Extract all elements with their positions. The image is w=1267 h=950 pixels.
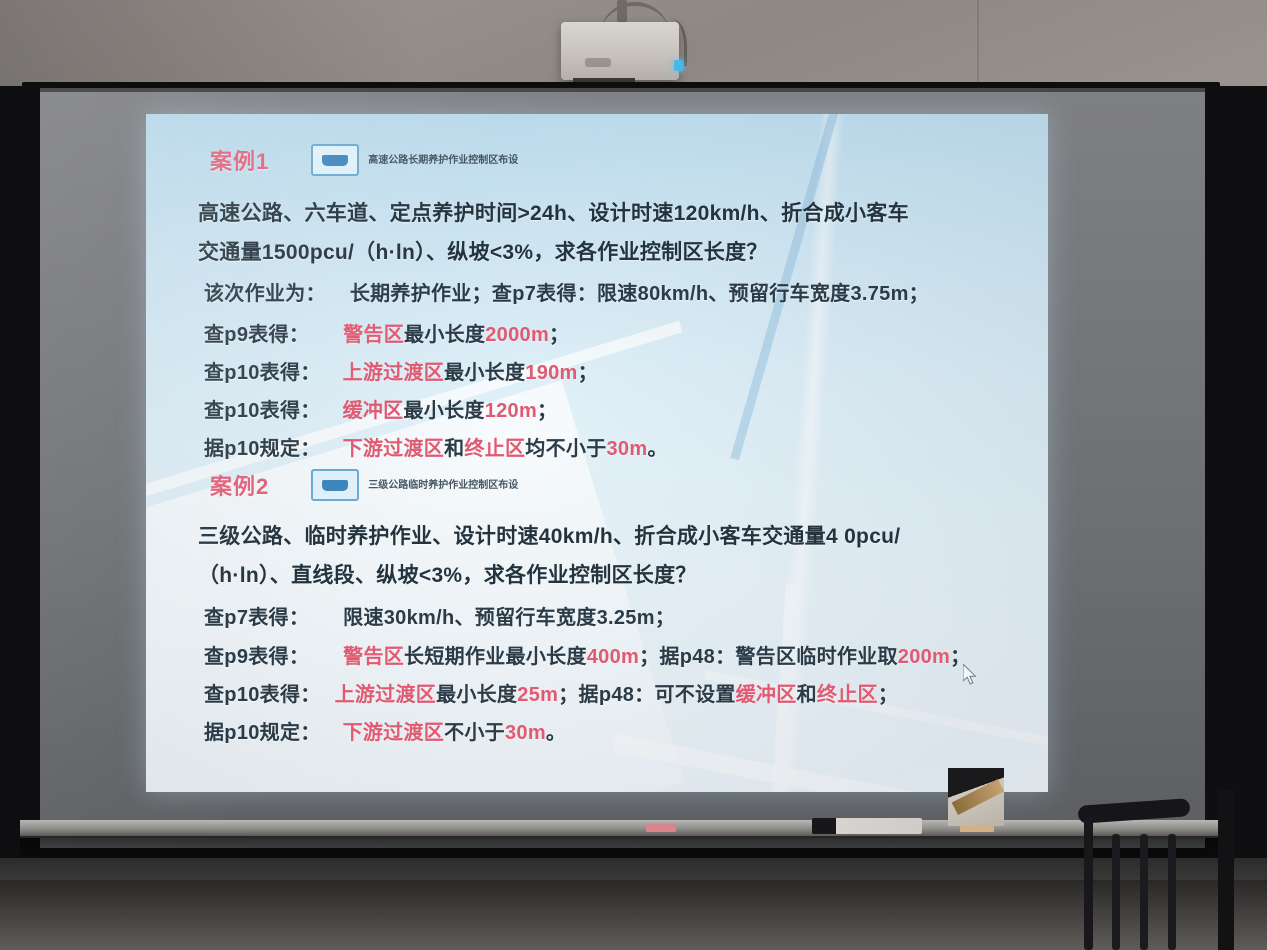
case1-thumbnail-caption: 高速公路长期养护作业控制区布设 — [368, 155, 518, 166]
case1-header: 案例1 高速公路长期养护作业控制区布设 — [210, 144, 518, 176]
case2-answer-2-hl2: 400m — [587, 646, 639, 668]
chair-post-3 — [1140, 834, 1148, 950]
board-right-panel — [1205, 86, 1267, 864]
case1-answer-5: 据p10规定：下游过渡区和终止区均不小于30m。 — [204, 432, 668, 461]
case1-answer-2-hl2: 2000m — [485, 324, 549, 346]
slide-thumbnail-icon — [311, 144, 359, 176]
case2-answer-4-mid1: 不小于 — [444, 722, 505, 744]
case1-answer-1-text: 长期养护作业；查p7表得：限速80km/h、预留行车宽度3.75m； — [326, 283, 929, 305]
case2-answer-3-hl2: 25m — [517, 684, 558, 706]
chair-post-4 — [1168, 834, 1176, 950]
case2-problem-line-1: 三级公路、临时养护作业、设计时速40km/h、折合成小客车交通量4 0pcu/ — [198, 520, 900, 550]
case2-answer-4-tail: 。 — [546, 722, 566, 744]
case1-thumbnail-group: 高速公路长期养护作业控制区布设 — [311, 144, 518, 176]
case1-answer-2-tail: ； — [549, 324, 569, 346]
case2-answer-3-mid3: 和 — [797, 684, 817, 706]
case2-answer-2-hl1: 警告区 — [309, 646, 404, 668]
projector-mount — [617, 0, 627, 22]
chair-backrest-rail — [1078, 798, 1191, 824]
case1-answer-5-mid2: 均不小于 — [525, 438, 606, 460]
case2-answer-3-hl4: 终止区 — [817, 684, 878, 706]
projected-slide: 案例1 高速公路长期养护作业控制区布设 高速公路、六车道、定点养护时间>24h、… — [146, 114, 1048, 792]
slide-content: 案例1 高速公路长期养护作业控制区布设 高速公路、六车道、定点养护时间>24h、… — [146, 114, 1048, 792]
whiteboard-eraser — [812, 818, 922, 834]
case2-header: 案例2 三级公路临时养护作业控制区布设 — [210, 469, 518, 501]
case1-answer-5-hl1: 下游过渡区 — [321, 438, 445, 460]
case2-answer-1: 查p7表得：限速30km/h、预留行车宽度3.25m； — [204, 601, 675, 630]
case1-answer-2-hl1: 警告区 — [309, 324, 404, 346]
case1-answer-4-mid1: 最小长度 — [403, 400, 484, 422]
case1-answer-2-mid1: 最小长度 — [404, 324, 485, 346]
case2-answer-3: 查p10表得：上游过渡区最小长度25m；据p48：可不设置缓冲区和终止区； — [204, 678, 898, 707]
slide-thumbnail-icon — [311, 469, 359, 501]
chair-post-1 — [1084, 816, 1093, 950]
case1-answer-5-tail: 。 — [647, 438, 667, 460]
case2-answer-4-label: 据p10规定： — [204, 722, 321, 744]
classroom-scene: 案例1 高速公路长期养护作业控制区布设 高速公路、六车道、定点养护时间>24h、… — [0, 0, 1267, 950]
case2-answer-3-label: 查p10表得： — [204, 684, 321, 706]
case2-answer-3-mid2: ；据p48：可不设置 — [558, 684, 735, 706]
case1-answer-4-hl1: 缓冲区 — [321, 400, 404, 422]
case1-answer-5-hl3: 30m — [607, 438, 648, 460]
chair-side-frame — [1218, 790, 1234, 950]
case1-answer-3-hl2: 190m — [525, 362, 577, 384]
case1-answer-3-hl1: 上游过渡区 — [321, 362, 445, 384]
case2-answer-4-hl2: 30m — [505, 722, 546, 744]
case2-answer-2-label: 查p9表得： — [204, 646, 309, 668]
case1-answer-2: 查p9表得：警告区最小长度2000m； — [204, 318, 569, 347]
desk-front-panel — [0, 880, 1267, 950]
chair-post-2 — [1112, 834, 1120, 950]
mouse-pointer-icon — [963, 664, 979, 686]
case2-answer-3-mid1: 最小长度 — [436, 684, 517, 706]
case1-problem-line-1: 高速公路、六车道、定点养护时间>24h、设计时速120km/h、折合成小客车 — [198, 197, 909, 227]
case1-answer-5-label: 据p10规定： — [204, 438, 321, 460]
case1-answer-4: 查p10表得：缓冲区最小长度120m； — [204, 394, 557, 423]
case2-answer-4-hl1: 下游过渡区 — [321, 722, 445, 744]
case1-problem-line-2: 交通量1500pcu/（h·ln）、纵坡<3%，求各作业控制区长度？ — [198, 236, 768, 266]
case2-answer-3-tail: ； — [878, 684, 898, 706]
case1-answer-3: 查p10表得：上游过渡区最小长度190m； — [204, 356, 598, 385]
case1-answer-1-label: 该次作业为： — [204, 283, 326, 305]
case2-answer-3-hl1: 上游过渡区 — [321, 684, 437, 706]
case2-problem-line-2: （h·ln）、直线段、纵坡<3%，求各作业控制区长度？ — [198, 559, 697, 589]
case1-answer-3-mid1: 最小长度 — [444, 362, 525, 384]
case1-answer-3-tail: ； — [578, 362, 598, 384]
case1-answer-4-tail: ； — [537, 400, 557, 422]
whiteboard-top-edge — [38, 88, 1206, 92]
projector-body — [561, 22, 679, 80]
projector-power-led-icon — [674, 60, 683, 71]
case1-answer-5-mid1: 和 — [444, 438, 464, 460]
case2-label: 案例2 — [210, 469, 269, 501]
case2-answer-3-hl3: 缓冲区 — [736, 684, 797, 706]
case2-answer-2-hl3: 200m — [898, 646, 950, 668]
case1-label: 案例1 — [210, 144, 269, 176]
case2-answer-4: 据p10规定：下游过渡区不小于30m。 — [204, 716, 566, 745]
case1-answer-5-hl2: 终止区 — [464, 438, 525, 460]
board-left-panel — [0, 86, 40, 864]
case1-answer-3-label: 查p10表得： — [204, 362, 321, 384]
case2-answer-1-label: 查p7表得： — [204, 607, 309, 629]
tray-marker-red — [646, 824, 676, 832]
case2-thumbnail-caption: 三级公路临时养护作业控制区布设 — [368, 480, 518, 491]
case1-answer-1: 该次作业为：长期养护作业；查p7表得：限速80km/h、预留行车宽度3.75m； — [204, 277, 929, 306]
case2-answer-2: 查p9表得：警告区长短期作业最小长度400m；据p48：警告区临时作业取200m… — [204, 640, 970, 669]
case1-answer-4-label: 查p10表得： — [204, 400, 321, 422]
case2-answer-2-mid1: 长短期作业最小长度 — [404, 646, 587, 668]
case1-answer-2-label: 查p9表得： — [204, 324, 309, 346]
case2-answer-2-mid2: ；据p48：警告区临时作业取 — [639, 646, 898, 668]
case2-thumbnail-group: 三级公路临时养护作业控制区布设 — [311, 469, 518, 501]
case1-answer-4-hl2: 120m — [485, 400, 537, 422]
chair — [1078, 790, 1228, 950]
case2-answer-1-text: 限速30km/h、预留行车宽度3.25m； — [309, 607, 675, 629]
